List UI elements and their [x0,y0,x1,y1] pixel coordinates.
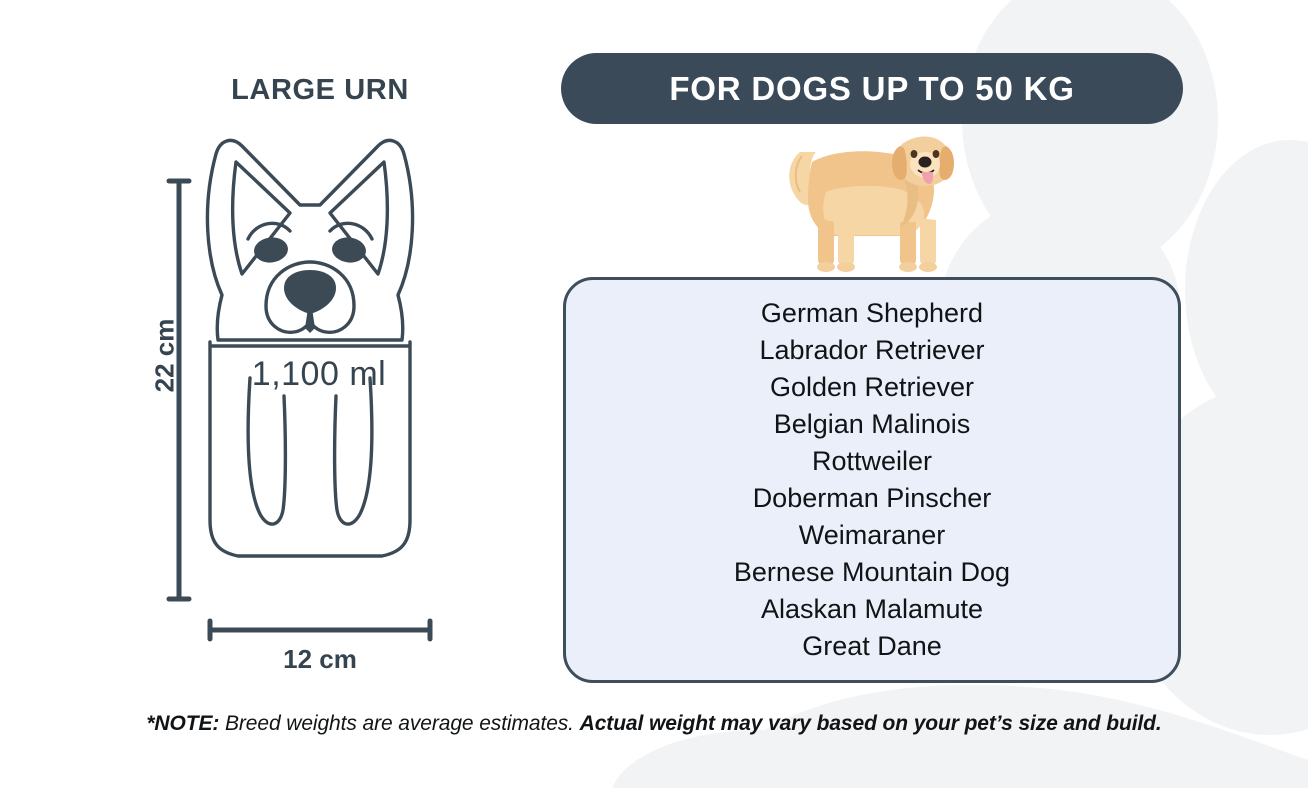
blob-bottom-sweep-icon [700,685,1308,788]
horizontal-dimension-arrow-icon [205,618,435,642]
footnote-emphasis: Actual weight may vary based on your pet… [580,712,1162,735]
footnote: *NOTE: Breed weights are average estimat… [0,712,1308,736]
breed-item: Bernese Mountain Dog [734,554,1010,591]
breed-item: Belgian Malinois [774,406,971,443]
weight-banner: FOR DOGS UP TO 50 KG [561,53,1183,124]
urn-title: LARGE URN [0,74,640,107]
urn-height-label: 22 cm [150,301,181,411]
footnote-normal: Breed weights are average estimates. [219,712,579,735]
blob-top-right-icon [962,0,1218,272]
breed-item: Alaskan Malamute [761,591,983,628]
urn-volume-label: 1,100 ml [178,355,460,394]
footnote-label: *NOTE: [146,712,219,735]
breed-item: Great Dane [802,628,942,665]
blob-far-right-icon [1185,140,1308,440]
infographic-canvas: LARGE URN [0,0,1308,788]
breed-item: Weimaraner [799,517,946,554]
breed-item: German Shepherd [761,295,983,332]
breed-item: Golden Retriever [770,369,974,406]
urn-width-label: 12 cm [195,644,445,675]
breed-item: Doberman Pinscher [753,480,992,517]
golden-retriever-icon [782,122,962,274]
blob-bottom-left-icon [610,730,910,788]
weight-banner-text: FOR DOGS UP TO 50 KG [669,70,1074,108]
breed-list-card: German Shepherd Labrador Retriever Golde… [563,277,1181,683]
breed-item: Rottweiler [812,443,932,480]
breed-item: Labrador Retriever [759,332,984,369]
